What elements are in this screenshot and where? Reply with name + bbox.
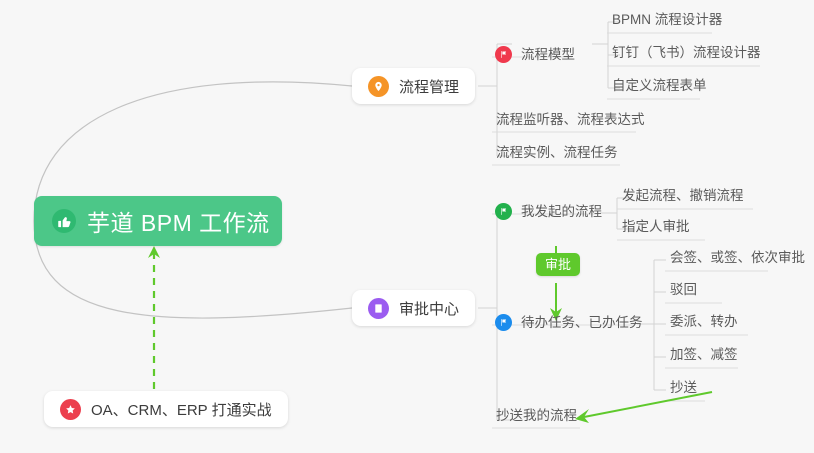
green-dashed-arrow bbox=[148, 246, 160, 389]
node-delegate-transfer[interactable]: 委派、转办 bbox=[664, 312, 744, 336]
node-label: 流程监听器、流程表达式 bbox=[496, 113, 645, 127]
node-label: 待办任务、已办任务 bbox=[521, 316, 643, 330]
node-label: 我发起的流程 bbox=[521, 205, 602, 219]
node-assignee-approval[interactable]: 指定人审批 bbox=[616, 217, 696, 241]
node-cc[interactable]: 抄送 bbox=[664, 378, 703, 402]
extra-node-integration[interactable]: OA、CRM、ERP 打通实战 bbox=[44, 391, 288, 427]
root-label: 芋道 BPM 工作流 bbox=[87, 204, 270, 238]
branch-label-process-management: 流程管理 bbox=[399, 76, 459, 97]
node-label: 会签、或签、依次审批 bbox=[670, 251, 805, 265]
node-label: 加签、减签 bbox=[670, 348, 738, 362]
node-label: 驳回 bbox=[670, 283, 697, 297]
branch-node-process-management[interactable]: 流程管理 bbox=[352, 68, 475, 104]
thumbs-up-icon bbox=[52, 209, 76, 233]
node-label: 抄送 bbox=[670, 381, 697, 395]
node-process-instance[interactable]: 流程实例、流程任务 bbox=[490, 143, 624, 167]
node-my-started-process[interactable]: 我发起的流程 bbox=[489, 202, 608, 226]
red-flag-icon bbox=[495, 46, 512, 63]
annotation-badge-approval: 审批 bbox=[536, 253, 580, 276]
location-pin-icon bbox=[368, 76, 389, 97]
node-process-model[interactable]: 流程模型 bbox=[489, 45, 581, 69]
node-add-remove-sign[interactable]: 加签、减签 bbox=[664, 345, 744, 369]
node-label: 委派、转办 bbox=[670, 315, 738, 329]
node-label: 指定人审批 bbox=[622, 220, 690, 234]
node-start-cancel-process[interactable]: 发起流程、撤销流程 bbox=[616, 186, 750, 210]
branch-node-approval-center[interactable]: 审批中心 bbox=[352, 290, 475, 326]
node-bpmn-designer[interactable]: BPMN 流程设计器 bbox=[606, 10, 728, 34]
root-node[interactable]: 芋道 BPM 工作流 bbox=[34, 196, 282, 246]
node-dingtalk-designer[interactable]: 钉钉（飞书）流程设计器 bbox=[606, 43, 767, 67]
node-label: 流程模型 bbox=[521, 48, 575, 62]
mindmap-canvas: 芋道 BPM 工作流 流程管理 流程模型 BPMN 流程设计器 钉钉（飞书）流程… bbox=[0, 0, 814, 453]
branch-label-approval-center: 审批中心 bbox=[399, 298, 459, 319]
node-cc-to-me[interactable]: 抄送我的流程 bbox=[490, 406, 583, 430]
clipboard-icon bbox=[368, 298, 389, 319]
green-flag-icon bbox=[495, 203, 512, 220]
node-label: 钉钉（飞书）流程设计器 bbox=[612, 46, 761, 60]
node-label: 流程实例、流程任务 bbox=[496, 146, 618, 160]
node-label: 自定义流程表单 bbox=[612, 79, 707, 93]
node-custom-form[interactable]: 自定义流程表单 bbox=[606, 76, 713, 100]
node-label: 发起流程、撤销流程 bbox=[622, 189, 744, 203]
node-label: 抄送我的流程 bbox=[496, 409, 577, 423]
node-process-listener[interactable]: 流程监听器、流程表达式 bbox=[490, 110, 651, 134]
star-icon bbox=[60, 399, 81, 420]
extra-node-label: OA、CRM、ERP 打通实战 bbox=[91, 399, 272, 420]
node-reject[interactable]: 驳回 bbox=[664, 280, 703, 304]
node-label: BPMN 流程设计器 bbox=[612, 13, 722, 27]
node-todo-done-tasks[interactable]: 待办任务、已办任务 bbox=[489, 313, 649, 337]
blue-flag-icon bbox=[495, 314, 512, 331]
node-countersign[interactable]: 会签、或签、依次审批 bbox=[664, 248, 811, 272]
